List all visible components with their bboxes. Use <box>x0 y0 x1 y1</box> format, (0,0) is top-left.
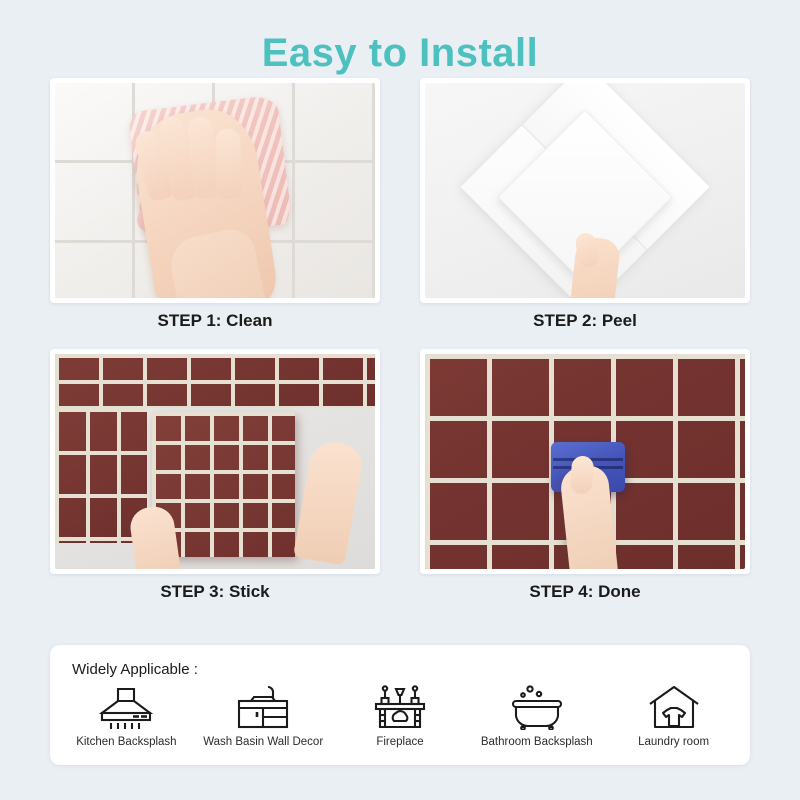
step-4-label: STEP 4: Done <box>420 574 750 608</box>
step-4-photo-frame <box>420 349 750 574</box>
step-1-clean-photo <box>55 83 375 298</box>
step-cell-4: STEP 4: Done <box>420 349 750 608</box>
step-cell-3: STEP 3: Stick <box>50 349 380 608</box>
step-2-label: STEP 2: Peel <box>420 303 750 337</box>
step-3-stick-photo <box>55 354 375 569</box>
use-case-bathroom-backsplash: Bathroom Backsplash <box>471 684 603 748</box>
bathtub-icon <box>505 684 569 730</box>
widely-applicable-title: Widely Applicable : <box>50 645 750 678</box>
step-1-photo-frame <box>50 78 380 303</box>
step-2-peel-photo <box>425 83 745 298</box>
step-cell-1: STEP 1: Clean <box>50 78 380 337</box>
widely-applicable-card: Widely Applicable : Kitchen Backsplas <box>50 645 750 765</box>
use-case-kitchen-backsplash: Kitchen Backsplash <box>60 684 192 748</box>
use-cases-row: Kitchen Backsplash Wash Basin Wall Decor <box>50 678 750 748</box>
use-case-label: Wash Basin Wall Decor <box>203 736 323 748</box>
step-1-label: STEP 1: Clean <box>50 303 380 337</box>
use-case-label: Fireplace <box>376 736 423 748</box>
use-case-label: Bathroom Backsplash <box>481 736 593 748</box>
step-4-done-photo <box>425 354 745 569</box>
finger <box>215 128 241 198</box>
vanity-sink-icon <box>231 684 295 730</box>
use-case-wash-basin: Wash Basin Wall Decor <box>197 684 329 748</box>
house-tshirt-icon <box>646 684 702 730</box>
use-case-fireplace: Fireplace <box>334 684 466 748</box>
step-3-label: STEP 3: Stick <box>50 574 380 608</box>
use-case-label: Laundry room <box>638 736 709 748</box>
page-title: Easy to Install <box>0 0 800 78</box>
use-case-laundry-room: Laundry room <box>608 684 740 748</box>
step-3-photo-frame <box>50 349 380 574</box>
fireplace-icon <box>372 684 428 730</box>
steps-grid: STEP 1: Clean STEP 2: Peel <box>50 78 750 608</box>
use-case-label: Kitchen Backsplash <box>76 736 176 748</box>
step-cell-2: STEP 2: Peel <box>420 78 750 337</box>
step-2-photo-frame <box>420 78 750 303</box>
range-hood-icon <box>95 684 157 730</box>
thumb <box>570 455 595 494</box>
installed-tile-row <box>55 354 375 408</box>
